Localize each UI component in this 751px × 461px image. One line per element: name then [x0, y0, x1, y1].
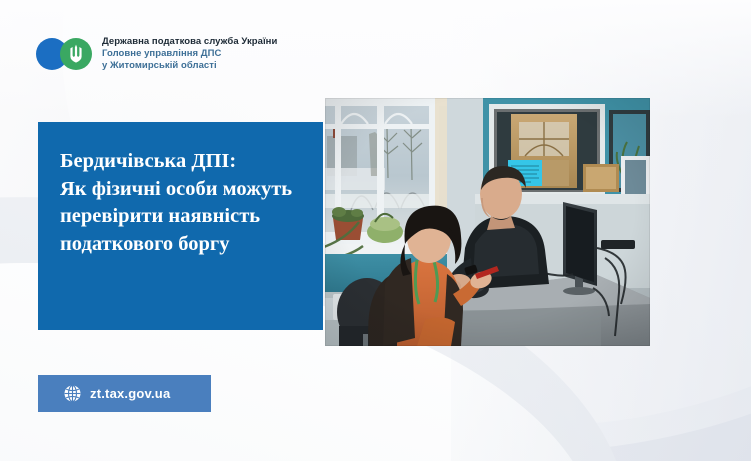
globe-icon	[64, 385, 81, 402]
green-circle-tryzub-icon	[60, 38, 92, 70]
agency-name-line-1: Державна податкова служба України	[102, 36, 277, 48]
headline-text: Бердичівська ДПІ: Як фізичні особи можут…	[60, 148, 292, 259]
website-url-badge[interactable]: zt.tax.gov.ua	[38, 375, 211, 412]
announcement-banner: Державна податкова служба України Головн…	[0, 0, 751, 461]
agency-name-line-3: у Житомирській області	[102, 60, 277, 72]
agency-header: Державна податкова служба України Головн…	[36, 36, 277, 71]
headline-block: Бердичівська ДПІ: Як фізичні особи можут…	[38, 122, 323, 330]
website-url-text: zt.tax.gov.ua	[90, 386, 170, 401]
office-photo	[325, 98, 650, 346]
agency-name-line-2: Головне управління ДПС	[102, 48, 277, 60]
office-photo-illustration	[325, 98, 650, 346]
agency-logo	[36, 38, 92, 70]
agency-name-text: Державна податкова служба України Головн…	[102, 36, 277, 71]
